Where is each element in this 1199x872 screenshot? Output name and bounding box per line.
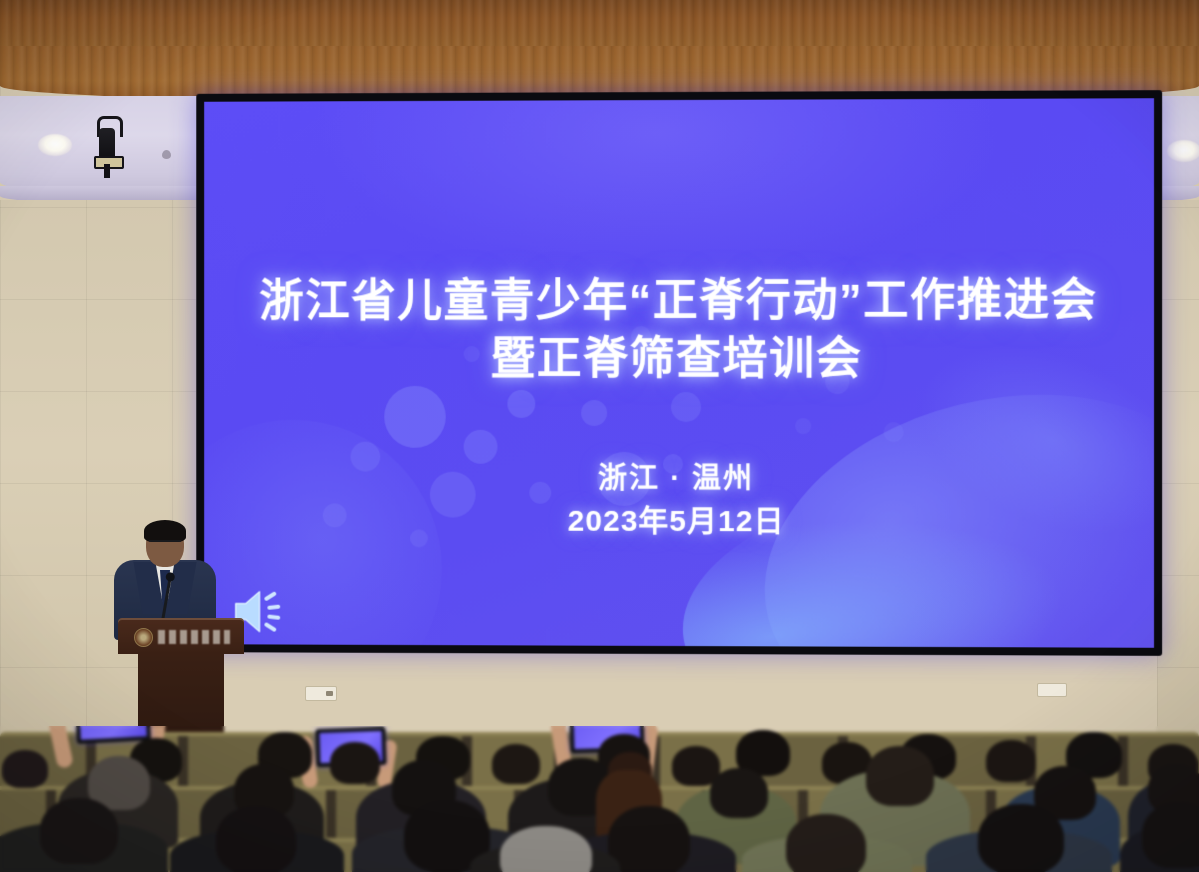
right-wall (1157, 200, 1199, 760)
audience-head (2, 750, 48, 788)
audience-head (978, 804, 1064, 872)
slide-location: 浙江 · 温州 (598, 463, 754, 495)
audience-head (40, 798, 118, 864)
led-screen-frame: 浙江省儿童青少年“正脊行动”工作推进会 暨正脊筛查培训会 浙江 · 温州 202… (196, 90, 1162, 656)
audience-head (1142, 802, 1199, 868)
audience-area (0, 726, 1199, 872)
audience-head (866, 746, 934, 806)
audience-head (786, 814, 866, 872)
conference-photo-scene: 浙江省儿童青少年“正脊行动”工作推进会 暨正脊筛查培训会 浙江 · 温州 202… (0, 0, 1199, 872)
slide-decoration-bubble (581, 400, 607, 426)
podium-top (118, 618, 244, 654)
slide-title: 浙江省儿童青少年“正脊行动”工作推进会 暨正脊筛查培训会 (204, 271, 1154, 387)
slide-decoration-bubble (384, 386, 446, 448)
slide-decoration-bubble (507, 390, 535, 418)
podium-nameplate-text (158, 630, 230, 644)
audience-head (216, 806, 296, 872)
audience-head (500, 826, 592, 872)
downlight-icon (38, 134, 72, 156)
slide-decoration-bubble (795, 418, 811, 434)
slide-date: 2023年5月12日 (204, 499, 1154, 544)
slide-title-line2: 暨正脊筛查培训会 (204, 329, 1154, 387)
slide-decoration-bubble (671, 392, 701, 422)
ceiling-wood-panel-upper (0, 0, 1199, 46)
slide-subtitle: 浙江 · 温州 2023年5月12日 (204, 457, 1154, 544)
audience-head (608, 806, 690, 872)
presenter-glasses (149, 540, 181, 548)
slide-decoration-bubble (884, 422, 904, 442)
audience-head (710, 768, 768, 818)
sprinkler-head-icon (162, 150, 171, 159)
audience-head (986, 740, 1036, 782)
podium-emblem-icon (134, 628, 153, 647)
slide-title-line1: 浙江省儿童青少年“正脊行动”工作推进会 (259, 274, 1097, 326)
audience-head (492, 744, 540, 784)
wall-plate-icon (1037, 683, 1067, 697)
spotlight-icon (94, 116, 120, 178)
downlight-icon (1167, 140, 1199, 162)
presenter-hair (144, 520, 186, 542)
wall-plate-icon (305, 686, 337, 701)
audience-head (330, 742, 380, 784)
presentation-slide[interactable]: 浙江省儿童青少年“正脊行动”工作推进会 暨正脊筛查培训会 浙江 · 温州 202… (204, 98, 1154, 648)
